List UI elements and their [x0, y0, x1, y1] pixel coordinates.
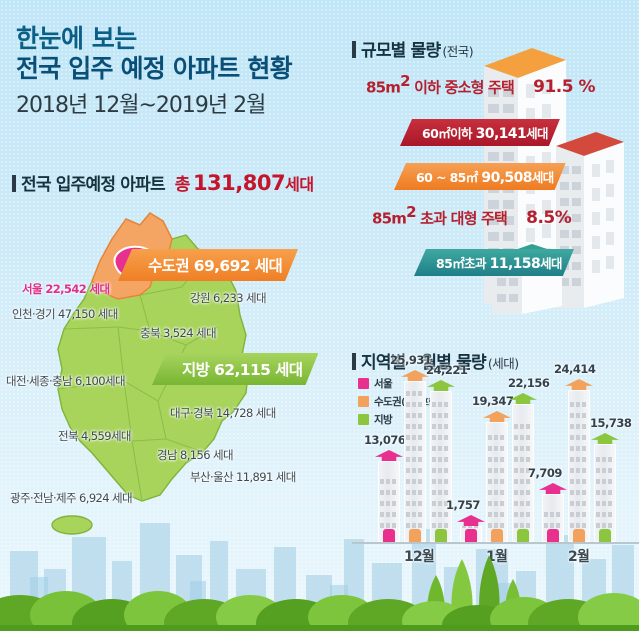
bar-window-row	[432, 512, 450, 517]
bar-tower	[486, 422, 508, 542]
bar-window-row	[432, 490, 450, 495]
bar-window-row	[406, 446, 424, 451]
bar-window-row	[406, 402, 424, 407]
bar-window-row	[432, 468, 450, 473]
tree-foreground	[0, 541, 639, 631]
bar-window-row	[488, 501, 506, 506]
bar-window-row	[570, 424, 588, 429]
chart-group-2월: 7,70924,41415,738	[542, 370, 620, 542]
map-label-gwangju-jeonnam-jeju: 광주·전남·제주 6,924 세대	[10, 490, 132, 506]
bar-window-row	[488, 479, 506, 484]
bar-window-row	[488, 523, 506, 528]
bar-roof	[401, 370, 429, 381]
bar-window-row	[514, 490, 532, 495]
bar-window-row	[432, 523, 450, 528]
bar-window-row	[406, 523, 424, 528]
bar-tower	[378, 461, 400, 542]
national-total-unit: 세대	[285, 171, 313, 195]
bar-window-row	[570, 468, 588, 473]
bar-window-row	[596, 501, 614, 506]
bar-window-row	[570, 446, 588, 451]
bar-window-row	[570, 457, 588, 462]
size-panel-heading: 규모별 물량 (전국)	[352, 36, 473, 61]
bar-window-row	[432, 402, 450, 407]
size-large-label-sup: 2	[406, 203, 416, 221]
map-label-incheon-gyeonggi: 인천·경기 47,150 세대	[12, 306, 118, 322]
bar-tower	[594, 444, 616, 542]
ribbon-local-region: 지방 62,115 세대	[152, 353, 318, 385]
chart-group-1월: 1,75719,34722,156	[460, 370, 538, 542]
bar-roof	[539, 483, 567, 494]
bar-window-row	[488, 457, 506, 462]
bar-value-label: 24,414	[554, 362, 595, 376]
national-total-label: 전국 입주예정 아파트	[21, 170, 165, 195]
bar-value-label: 15,738	[590, 416, 631, 430]
size-small-label-sup: 2	[400, 72, 410, 90]
heading-tick-icon	[12, 175, 16, 192]
tag-60-to-85: 60 ~ 85㎡ 90,508세대	[394, 163, 566, 190]
bar-roof	[427, 380, 455, 391]
bar-window-row	[406, 501, 424, 506]
bar-window-row	[570, 512, 588, 517]
map-label-jeonbuk: 전북 4,559세대	[58, 428, 131, 444]
bar-window-row	[488, 512, 506, 517]
bar-value-label: 13,076	[364, 433, 405, 447]
size-small-percent: 91.5 %	[533, 77, 595, 97]
bar-window-row	[432, 435, 450, 440]
map-label-seoul: 서울 22,542 세대	[22, 281, 110, 297]
size-row-large: 85m2 초과 대형 주택 8.5%	[372, 203, 571, 228]
bar-window-row	[406, 490, 424, 495]
bar-window-row	[570, 479, 588, 484]
bar-window-row	[406, 512, 424, 517]
bar-window-row	[488, 435, 506, 440]
bar-window-row	[432, 479, 450, 484]
header-line-1: 한눈에 보는	[16, 24, 346, 54]
tag-over-85: 85㎡초과 11,158세대	[414, 249, 574, 276]
bar-tower	[568, 390, 590, 542]
bar-window-row	[570, 435, 588, 440]
chart-group-12월: 13,07625,93124,221	[378, 370, 456, 542]
size-large-percent: 8.5%	[526, 208, 571, 228]
bar-window-row	[596, 468, 614, 473]
bar-window-row	[514, 446, 532, 451]
size-small-label-pre: 85m	[366, 78, 400, 96]
bar-window-row	[514, 501, 532, 506]
map-label-gyeongnam: 경남 8,156 세대	[157, 447, 233, 463]
heading-tick-icon	[352, 41, 356, 58]
infographic-poster: 한눈에 보는 전국 입주 예정 아파트 현황 2018년 12월~2019년 2…	[0, 0, 639, 631]
size-volume-panel: 규모별 물량 (전국) 85m2 이하 중소형 주택 91.5 % 60㎡이하 …	[352, 36, 639, 336]
heading-tick-icon	[352, 353, 356, 370]
national-total-number: 131,807	[193, 171, 285, 195]
map-region-jeju	[52, 516, 92, 534]
bar-roof	[591, 433, 619, 444]
bar-window-row	[570, 413, 588, 418]
bar-window-row	[488, 468, 506, 473]
bar-value-label: 1,757	[446, 498, 480, 512]
size-panel-subtitle: (전국)	[442, 41, 473, 60]
bar-window-row	[514, 512, 532, 517]
bar-window-row	[406, 424, 424, 429]
chart-plot-area: 13,07625,93124,22112월1,75719,34722,1561월…	[352, 370, 639, 564]
bar-tower	[430, 391, 452, 542]
national-total-word: 총	[175, 170, 190, 195]
bar-window-row	[570, 523, 588, 528]
bar-window-row	[380, 479, 398, 484]
bar-window-row	[488, 490, 506, 495]
bar-window-row	[488, 446, 506, 451]
map-label-chungbuk: 충북 3,524 세대	[140, 325, 216, 341]
bar-window-row	[380, 490, 398, 495]
bar-window-row	[462, 526, 480, 528]
bar-window-row	[596, 490, 614, 495]
bar-window-row	[514, 457, 532, 462]
map-label-daejeon-sejong-chungnam: 대전·세종·충남 6,100세대	[6, 373, 125, 389]
map-label-busan-ulsan: 부산·울산 11,891 세대	[190, 469, 296, 485]
bar-tower	[460, 526, 482, 542]
bar-roof	[483, 411, 511, 422]
bar-window-row	[432, 413, 450, 418]
bar-roof	[565, 379, 593, 390]
bar-window-row	[570, 402, 588, 407]
bar-window-row	[596, 523, 614, 528]
bush-canopy	[0, 591, 639, 631]
map-label-daegu-gyeongbuk: 대구·경북 14,728 세대	[170, 405, 276, 421]
bar-window-row	[432, 457, 450, 462]
bar-roof	[457, 515, 485, 526]
size-large-label-post: 초과 대형 주택	[416, 209, 507, 227]
bar-window-row	[432, 446, 450, 451]
bar-tower	[404, 381, 426, 542]
bar-window-row	[406, 391, 424, 396]
ribbon-capital-region: 수도권 69,692 세대	[118, 249, 298, 281]
bar-window-row	[406, 457, 424, 462]
bar-value-label: 19,347	[472, 394, 513, 408]
bar-window-row	[406, 479, 424, 484]
size-small-label-post: 이하 중소형 주택	[410, 78, 514, 96]
bar-window-row	[380, 512, 398, 517]
size-panel-title: 규모별 물량	[361, 36, 440, 61]
size-row-small: 85m2 이하 중소형 주택 91.5 %	[366, 72, 595, 97]
header-period: 2018년 12월~2019년 2월	[16, 87, 346, 119]
bar-window-row	[380, 523, 398, 528]
bar-window-row	[570, 490, 588, 495]
bar-tower	[542, 494, 564, 542]
bar-window-row	[514, 435, 532, 440]
bar-window-row	[406, 413, 424, 418]
header-line-2: 전국 입주 예정 아파트 현황	[16, 54, 346, 84]
bar-window-row	[432, 424, 450, 429]
map-label-gangwon: 강원 6,233 세대	[190, 290, 266, 306]
bar-roof	[375, 450, 403, 461]
bar-window-row	[514, 523, 532, 528]
bar-window-row	[544, 512, 562, 517]
size-large-label-pre: 85m	[372, 209, 406, 227]
bar-window-row	[514, 424, 532, 429]
tag-under-60: 60㎡이하 30,141세대	[400, 119, 560, 146]
bar-window-row	[406, 468, 424, 473]
bar-value-label: 7,709	[528, 466, 562, 480]
bar-window-row	[380, 501, 398, 506]
bar-window-row	[596, 479, 614, 484]
national-total: 전국 입주예정 아파트 총 131,807 세대	[12, 170, 314, 195]
bar-window-row	[406, 435, 424, 440]
bar-window-row	[596, 457, 614, 462]
bar-window-row	[596, 512, 614, 517]
bar-window-row	[570, 501, 588, 506]
bar-window-row	[544, 523, 562, 528]
poster-header: 한눈에 보는 전국 입주 예정 아파트 현황 2018년 12월~2019년 2…	[16, 24, 346, 119]
